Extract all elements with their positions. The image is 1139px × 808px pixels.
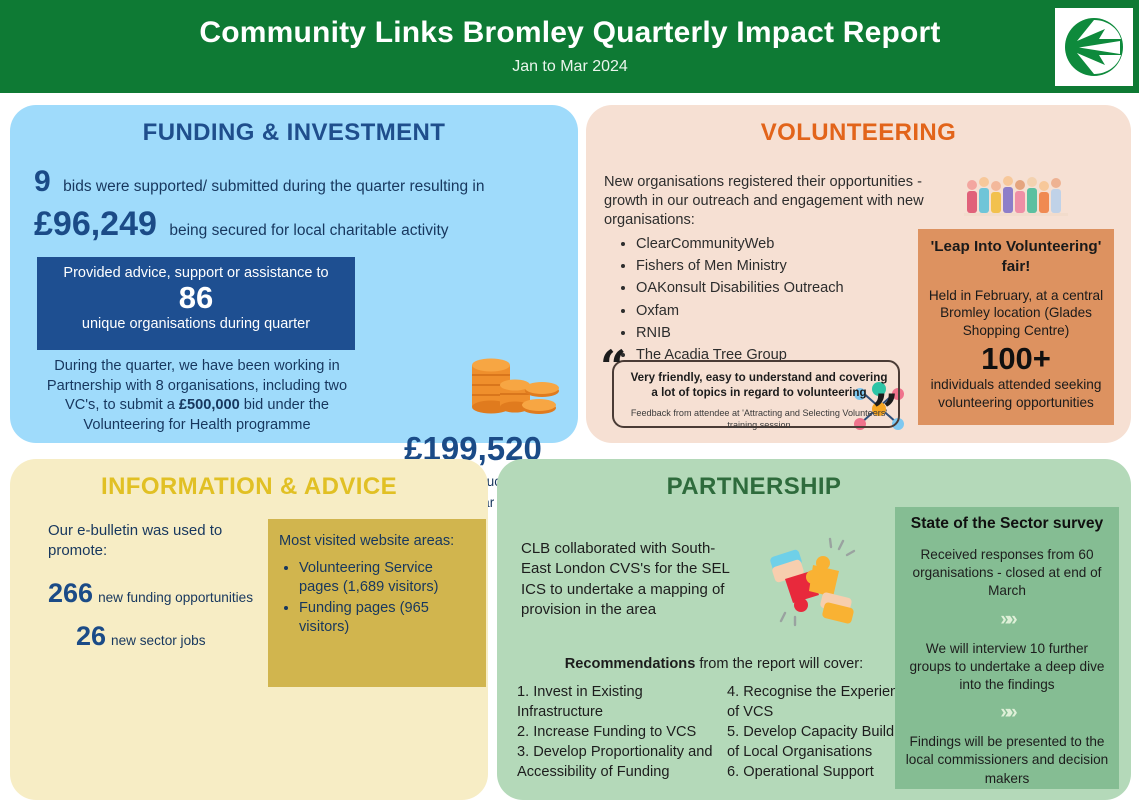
quote-attribution: Feedback from attendee at 'Attracting an… <box>618 408 900 432</box>
volunteering-intro: New organisations registered their oppor… <box>604 173 934 230</box>
survey-title: State of the Sector survey <box>905 515 1109 533</box>
infographic-page: Community Links Bromley Quarterly Impact… <box>0 0 1139 808</box>
partnership-panel: PARTNERSHIP CLB collaborated with South-… <box>497 459 1131 800</box>
list-item: OAKonsult Disabilities Outreach <box>636 277 952 299</box>
information-title: INFORMATION & ADVICE <box>10 473 488 501</box>
puzzle-handshake-icon <box>765 537 857 634</box>
stat-label: new sector jobs <box>111 633 205 648</box>
recommendation-item: 1. Invest in Existing Infrastructure <box>517 683 717 723</box>
information-advice-panel: INFORMATION & ADVICE Our e-bulletin was … <box>10 459 488 800</box>
funding-amount: £96,249 <box>34 205 157 243</box>
fair-detail: Held in February, at a central Bromley l… <box>925 287 1107 341</box>
funding-investment-panel: FUNDING & INVESTMENT 9 bids were support… <box>10 105 578 443</box>
list-item: Oxfam <box>636 300 952 322</box>
stat-label: new funding opportunities <box>98 590 253 605</box>
stat-funding-opportunities: 266 new funding opportunities <box>48 578 274 609</box>
recommendation-item: 6. Operational Support <box>727 763 917 783</box>
recommendations-column-left: 1. Invest in Existing Infrastructure 2. … <box>517 683 717 783</box>
funding-amount-label: being secured for local charitable activ… <box>169 222 448 239</box>
stat-number: 26 <box>76 621 106 652</box>
recommendation-item: 3. Develop Proportionality and Accessibi… <box>517 743 717 783</box>
list-item: Funding pages (965 visitors) <box>299 599 475 637</box>
most-visited-website-box: Most visited website areas: Volunteering… <box>268 519 486 687</box>
recommendations-heading-bold: Recommendations <box>565 656 696 672</box>
chevron-right-icon: »» <box>905 609 1109 631</box>
website-areas-list: Volunteering Service pages (1,689 visito… <box>299 559 475 637</box>
recommendations-heading-rest: from the report will cover: <box>695 656 863 672</box>
list-item: Fishers of Men Ministry <box>636 255 952 277</box>
advice-support-box: Provided advice, support or assistance t… <box>37 257 355 350</box>
advice-box-top-label: Provided advice, support or assistance t… <box>37 265 355 281</box>
ebulletin-lead: Our e-bulletin was used to promote: <box>48 521 274 560</box>
new-organisations-list: ClearCommunityWeb Fishers of Men Ministr… <box>622 233 952 366</box>
volunteer-feedback-quote: “ ” Very friendly, easy to understand an… <box>600 350 912 440</box>
recommendations-heading: Recommendations from the report will cov… <box>519 656 909 672</box>
survey-interviews-text: We will interview 10 further groups to u… <box>905 640 1109 695</box>
funding-title: FUNDING & INVESTMENT <box>10 119 578 147</box>
report-period: Jan to Mar 2024 <box>80 58 1060 76</box>
chevron-right-icon: »» <box>905 702 1109 724</box>
fair-attendance-count: 100+ <box>925 342 1107 376</box>
bids-label: bids were supported/ submitted during th… <box>63 178 484 195</box>
stat-sector-jobs: 26 new sector jobs <box>48 621 274 652</box>
list-item: ClearCommunityWeb <box>636 233 952 255</box>
organisation-logo <box>1055 8 1133 86</box>
volunteering-panel: VOLUNTEERING New organisations registere… <box>586 105 1131 443</box>
survey-responses-text: Received responses from 60 organisations… <box>905 546 1109 601</box>
website-box-title: Most visited website areas: <box>279 533 475 549</box>
quote-open-icon: “ <box>600 344 626 390</box>
partnership-bid-amount: £500,000 <box>179 397 240 413</box>
partnership-title-text: PARTNERSHIP <box>667 473 842 501</box>
logo-icon <box>1063 16 1125 78</box>
collaboration-text: CLB collaborated with South-East London … <box>521 539 737 620</box>
survey-findings-text: Findings will be presented to the local … <box>905 733 1109 788</box>
state-of-sector-survey-box: State of the Sector survey Received resp… <box>895 507 1119 789</box>
list-item: Volunteering Service pages (1,689 visito… <box>299 559 475 597</box>
stat-number: 266 <box>48 578 93 609</box>
page-title: Community Links Bromley Quarterly Impact… <box>80 16 1060 50</box>
recommendation-item: 2. Increase Funding to VCS <box>517 723 717 743</box>
leap-into-volunteering-box: 'Leap Into Volunteering' fair! Held in F… <box>918 229 1114 425</box>
recommendations-column-right: 4. Recognise the Experience of VCS 5. De… <box>727 683 917 783</box>
fair-attendance-label: individuals attended seeking volunteerin… <box>925 376 1107 411</box>
funding-headline-stats: 9 bids were supported/ submitted during … <box>34 165 554 244</box>
quote-text: Very friendly, easy to understand and co… <box>626 370 892 401</box>
partnership-bid-note: During the quarter, we have been working… <box>36 357 358 435</box>
list-item: RNIB <box>636 322 952 344</box>
stacked-coins-icon <box>466 353 562 428</box>
report-header: Community Links Bromley Quarterly Impact… <box>0 0 1139 93</box>
advice-box-bottom-label: unique organisations during quarter <box>37 316 355 332</box>
recommendation-item: 4. Recognise the Experience of VCS <box>727 683 917 723</box>
unique-organisations-count: 86 <box>37 281 355 316</box>
volunteering-title: VOLUNTEERING <box>586 119 1131 147</box>
crowd-of-people-icon <box>964 171 1068 224</box>
bids-count: 9 <box>34 165 51 198</box>
ebulletin-stats: Our e-bulletin was used to promote: 266 … <box>48 521 274 652</box>
partnership-title: PARTNERSHIP <box>497 473 1131 501</box>
recommendation-item: 5. Develop Capacity Building of Local Or… <box>727 723 917 763</box>
fair-title: 'Leap Into Volunteering' fair! <box>925 237 1107 277</box>
